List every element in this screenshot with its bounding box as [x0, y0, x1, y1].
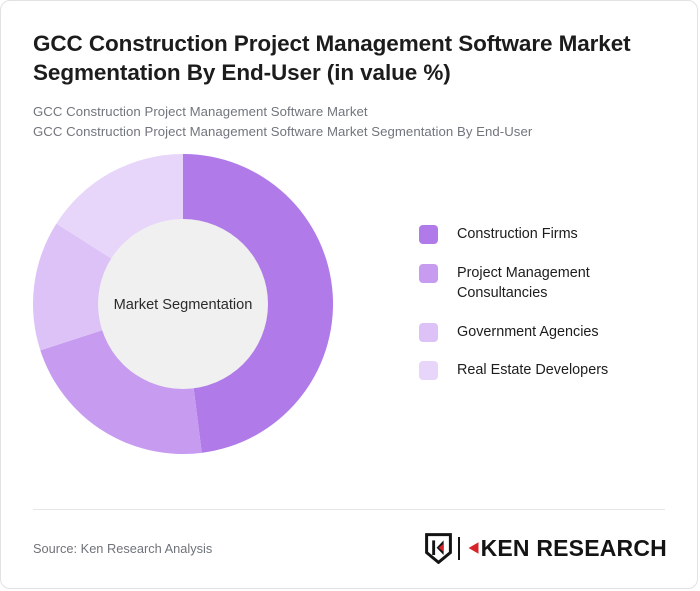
legend-item-project-management-consultancies[interactable]: Project Management Consultancies — [419, 263, 669, 304]
legend-swatch-icon — [419, 264, 438, 283]
brand-triangle-icon — [467, 540, 480, 556]
source-note: Source: Ken Research Analysis — [33, 541, 212, 556]
legend-label: Government Agencies — [457, 322, 599, 342]
chart-card: GCC Construction Project Management Soft… — [0, 0, 698, 589]
donut-center-label: Market Segmentation — [114, 297, 253, 313]
footer-divider — [33, 509, 665, 510]
brand-wordmark: KEN RESEARCH — [467, 535, 667, 562]
legend-label: Project Management Consultancies — [457, 263, 642, 304]
brand-divider — [458, 537, 460, 560]
legend-swatch-icon — [419, 323, 438, 342]
page-title: GCC Construction Project Management Soft… — [33, 29, 633, 88]
legend-item-real-estate-developers[interactable]: Real Estate Developers — [419, 360, 669, 380]
legend-swatch-icon — [419, 361, 438, 380]
subtitle-market: GCC Construction Project Management Soft… — [33, 102, 665, 122]
brand-logo: KEN RESEARCH — [425, 533, 667, 564]
chart-footer: Source: Ken Research Analysis KEN RESEAR… — [33, 531, 667, 565]
chart-header: GCC Construction Project Management Soft… — [1, 1, 697, 142]
legend-label: Construction Firms — [457, 224, 578, 244]
legend-label: Real Estate Developers — [457, 360, 608, 380]
legend-swatch-icon — [419, 225, 438, 244]
chart-body: Market Segmentation Construction Firms P… — [1, 142, 697, 472]
subtitle-segmentation: GCC Construction Project Management Soft… — [33, 122, 665, 142]
legend-item-government-agencies[interactable]: Government Agencies — [419, 322, 669, 342]
brand-name-text: KEN RESEARCH — [481, 535, 667, 562]
subtitle-group: GCC Construction Project Management Soft… — [33, 102, 665, 143]
donut-chart: Market Segmentation — [33, 154, 333, 454]
chart-legend: Construction Firms Project Management Co… — [419, 224, 669, 398]
donut-svg: Market Segmentation — [33, 154, 333, 454]
ken-shield-icon — [425, 533, 452, 564]
legend-item-construction-firms[interactable]: Construction Firms — [419, 224, 669, 244]
